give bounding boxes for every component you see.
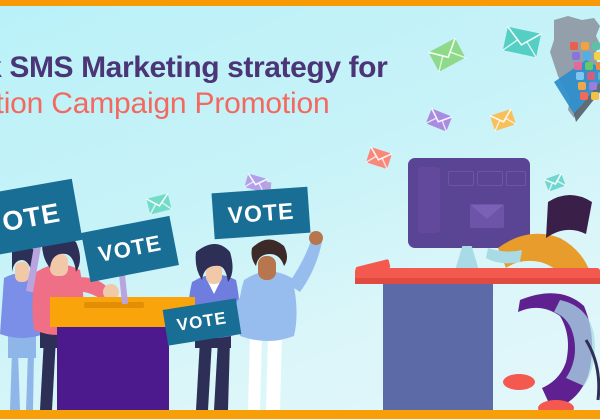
placard-label: VOTE <box>176 308 229 336</box>
placard-label: VOTE <box>0 197 63 241</box>
ballot-box-slot <box>84 302 144 308</box>
figure-man-light-blue <box>234 231 323 410</box>
bottom-accent-bar <box>0 410 600 419</box>
banner-canvas: Bulk SMS Marketing strategy for Election… <box>0 0 600 419</box>
placard-label: VOTE <box>227 197 295 229</box>
figure-person-orange-shirt <box>486 195 599 416</box>
placard-vote-3[interactable]: VOTE <box>212 187 311 240</box>
ballot-box-body <box>57 327 169 410</box>
placard-label: VOTE <box>96 230 164 268</box>
desk-body <box>383 284 493 410</box>
